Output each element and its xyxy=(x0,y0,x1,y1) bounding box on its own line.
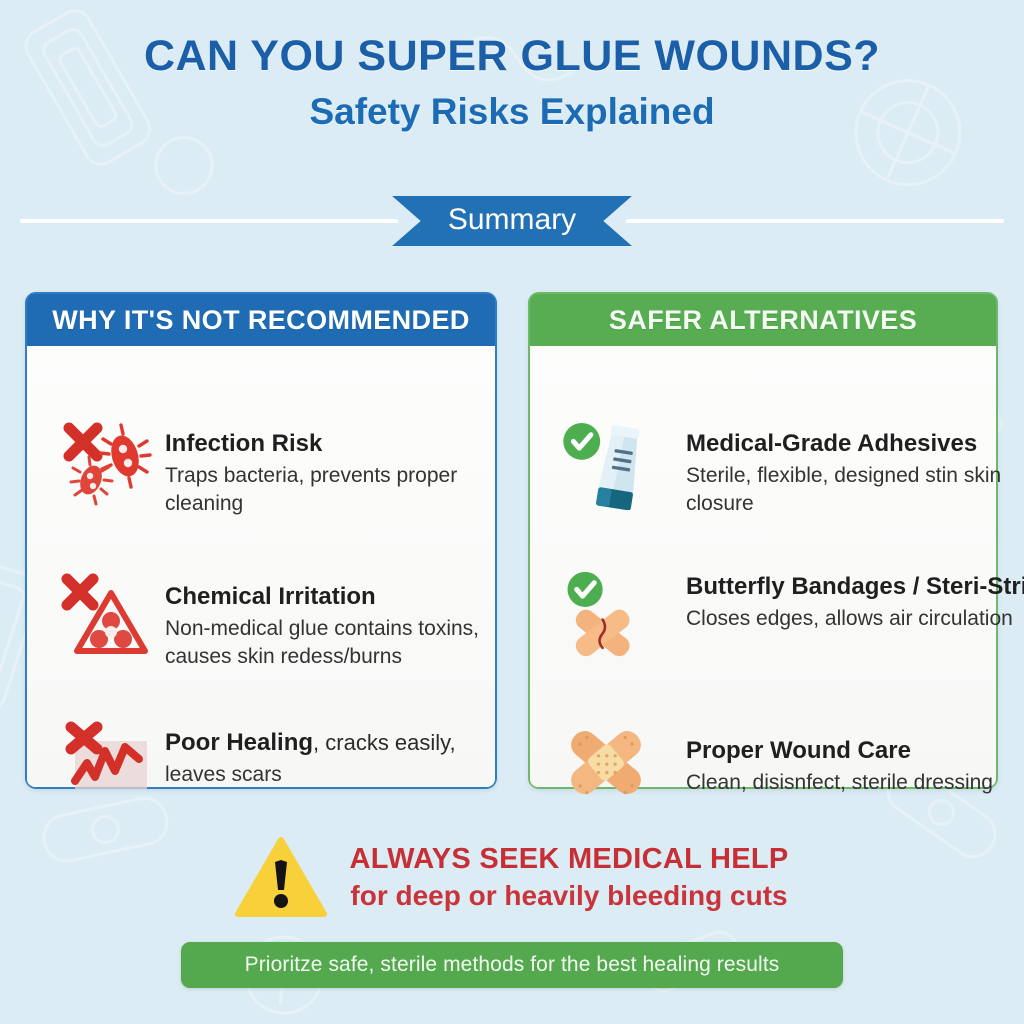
card-header-risks: WHY IT'S NOT RECOMMENDED xyxy=(27,294,495,346)
check-butterfly-bandage-icon xyxy=(560,571,652,663)
list-item-text: Chemical Irritation Non-medical glue con… xyxy=(165,583,535,672)
cards-container: WHY IT'S NOT RECOMMENDED xyxy=(0,292,1024,792)
summary-ribbon: Summary xyxy=(392,196,632,247)
list-item-desc: Sterile, flexible, designed stin skin cl… xyxy=(686,462,1024,518)
list-item-text: Medical-Grade Adhesives Sterile, flexibl… xyxy=(686,430,1024,519)
header-block: CAN YOU SUPER GLUE WOUNDS? Safety Risks … xyxy=(0,0,1024,131)
list-item-title: Infection Risk xyxy=(165,430,505,458)
cross-hazard-triangle-icon xyxy=(61,571,153,663)
card-safer-alternatives: SAFER ALTERNATIVES xyxy=(528,292,998,789)
footer-banner: Prioritze safe, sterile methods for the … xyxy=(181,942,843,988)
list-item-title-suffix: , cracks easily, xyxy=(313,730,456,755)
list-item-desc: Traps bacteria, prevents proper cleaning xyxy=(165,462,505,518)
list-item-desc: Closes edges, allows air circulation xyxy=(686,605,1024,633)
warning-text: ALWAYS SEEK MEDICAL HELP for deep or hea… xyxy=(349,843,788,913)
divider-rule-left xyxy=(20,219,398,223)
cross-bacteria-icon xyxy=(61,418,153,510)
card-why-not-recommended: WHY IT'S NOT RECOMMENDED xyxy=(25,292,497,789)
list-item-title: Proper Wound Care xyxy=(686,737,1024,765)
list-item-title: Medical-Grade Adhesives xyxy=(686,430,1024,458)
warning-block: ALWAYS SEEK MEDICAL HELP for deep or hea… xyxy=(0,832,1024,924)
summary-ribbon-row: Summary xyxy=(0,196,1024,246)
list-item-title: Poor Healing, cracks easily, xyxy=(165,729,525,757)
page-title: CAN YOU SUPER GLUE WOUNDS? xyxy=(0,34,1024,80)
crossed-bandages-icon xyxy=(560,719,652,811)
list-item-text: Butterfly Bandages / Steri-Strips Closes… xyxy=(686,573,1024,633)
list-item-title: Chemical Irritation xyxy=(165,583,535,611)
list-item-desc: leaves scars xyxy=(165,761,525,789)
list-item-desc: Clean, disisnfect, sterile dressing xyxy=(686,769,1024,797)
footer-text: Prioritze safe, sterile methods for the … xyxy=(245,953,780,977)
warning-line-1: ALWAYS SEEK MEDICAL HELP xyxy=(349,843,788,876)
card-header-alternatives: SAFER ALTERNATIVES xyxy=(530,294,996,346)
divider-rule-right xyxy=(626,219,1004,223)
list-item-text: Poor Healing, cracks easily, leaves scar… xyxy=(165,729,525,789)
warning-line-2: for deep or heavily bleeding cuts xyxy=(349,879,788,913)
list-item-title-bold: Poor Healing xyxy=(165,729,313,756)
list-item-text: Infection Risk Traps bacteria, prevents … xyxy=(165,430,505,519)
card-body-risks: Infection Risk Traps bacteria, prevents … xyxy=(27,346,495,787)
cross-broken-healing-icon xyxy=(61,719,153,811)
check-glue-tube-icon xyxy=(560,418,652,510)
card-body-alternatives: Medical-Grade Adhesives Sterile, flexibl… xyxy=(530,346,996,787)
list-item-text: Proper Wound Care Clean, disisnfect, ste… xyxy=(686,737,1024,797)
list-item-title: Butterfly Bandages / Steri-Strips xyxy=(686,573,1024,601)
list-item-desc: Non-medical glue contains toxins, causes… xyxy=(165,615,535,671)
page-subtitle: Safety Risks Explained xyxy=(0,92,1024,131)
warning-triangle-icon xyxy=(235,836,327,920)
